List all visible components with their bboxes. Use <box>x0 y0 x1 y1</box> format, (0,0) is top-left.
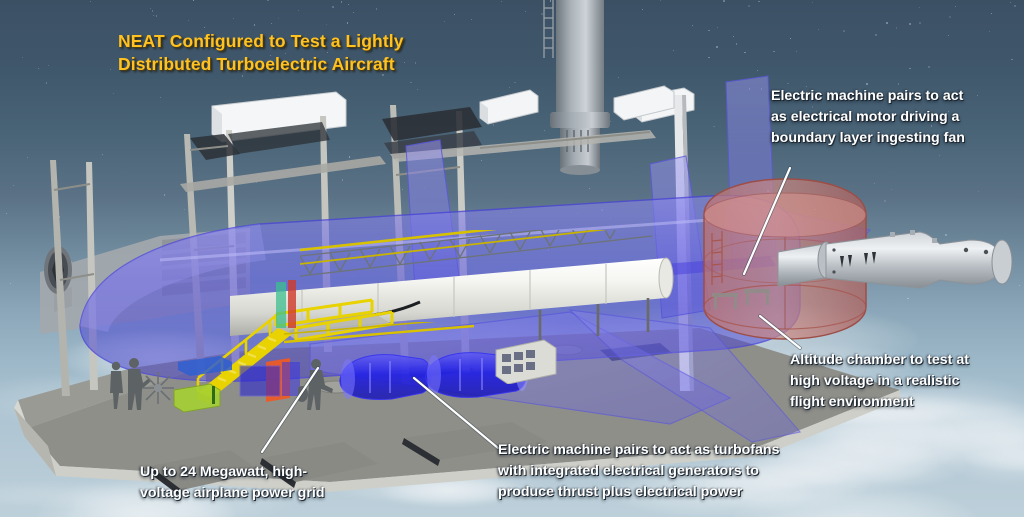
callout-power-grid: Up to 24 Megawatt, high- voltage airplan… <box>140 462 370 504</box>
callout-turbofan-generators: Electric machine pairs to act as turbofa… <box>498 440 828 503</box>
pressure-vessel <box>770 210 1024 320</box>
callout-altitude-chamber: Altitude chamber to test at high voltage… <box>790 350 1020 413</box>
control-panels <box>176 352 246 378</box>
neat-illustration: NEAT Configured to Test a Lightly Distri… <box>0 0 1024 517</box>
equipment-cabinets <box>492 330 562 384</box>
electrical-equipment <box>236 356 306 408</box>
person-figures <box>298 358 348 410</box>
cable-reel <box>140 370 180 410</box>
page-title: NEAT Configured to Test a Lightly Distri… <box>118 30 404 76</box>
callout-boundary-layer-fan: Electric machine pairs to act as electri… <box>771 86 1021 149</box>
